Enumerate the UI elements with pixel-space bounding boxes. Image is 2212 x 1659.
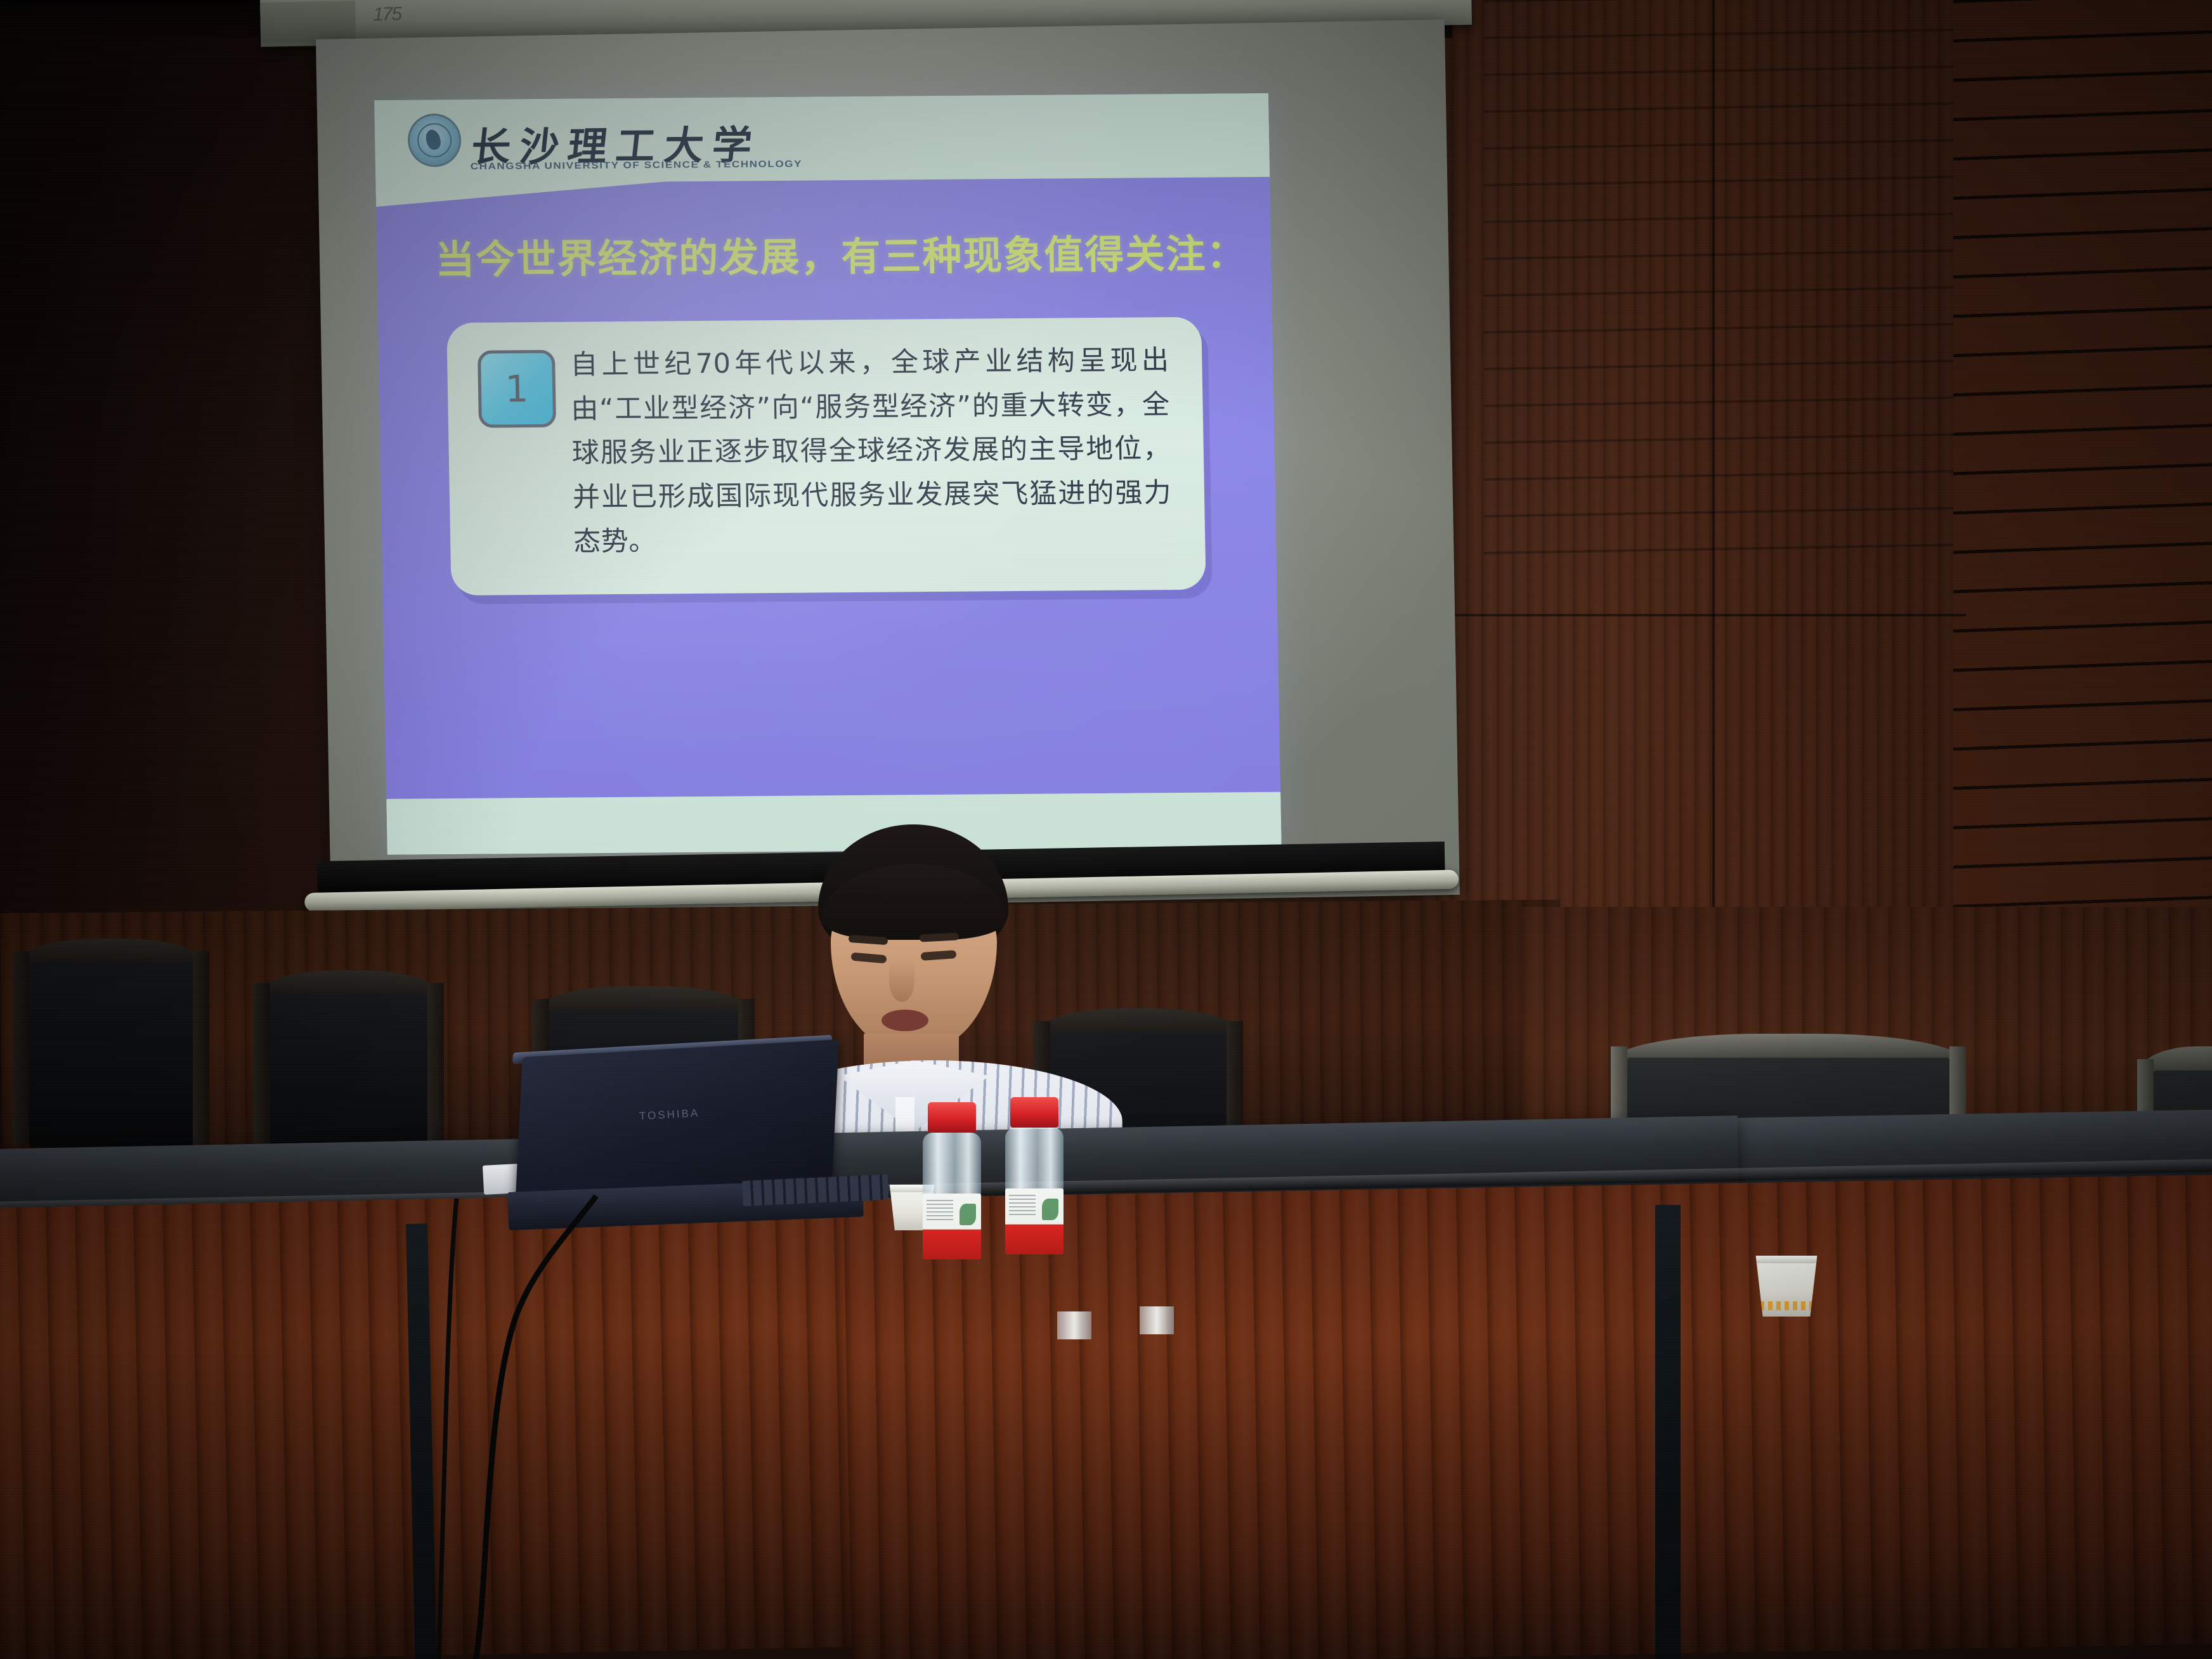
wall-slats-upper [1484,0,1966,571]
bottle-label-text-block [1009,1195,1036,1216]
cup-decoration-band [1760,1301,1813,1310]
slide-point-card: 1 自上世纪70年代以来，全球产业结构呈现出由“工业型经济”向“服务型经济”的重… [446,317,1206,595]
bottle-body [923,1133,981,1259]
bottle-label [1005,1188,1064,1254]
paper-cup-right [1752,1256,1821,1317]
wall-seam-horizontal [1421,614,1966,616]
chair-backrest [29,963,193,1148]
bottle-cap [928,1102,976,1133]
bottle-cap [1010,1097,1058,1128]
point-number-badge: 1 [478,350,556,428]
desk-panel-gap-right [1655,1205,1681,1659]
bottle-neck [1057,1311,1091,1339]
chair-left-1 [13,939,209,1148]
presenter-nose [889,960,914,1002]
presenter-mouth [882,1010,928,1031]
projected-slide: 长沙理工大学 CHANGSHA UNIVERSITY OF SCIENCE & … [374,93,1282,855]
chair-post-left [13,951,29,1144]
university-seal-icon [407,114,461,167]
chair-post-right [193,951,209,1144]
desk-front-panel-left [0,1190,872,1659]
projector-screen-housing-cap [260,1,356,43]
slide-title: 当今世界经济的发展，有三种现象值得关注： [435,221,1248,285]
bottle-neck [1140,1306,1174,1334]
lecture-hall-photo: 175 长沙理工大学 CHANGSHA UNIVERSITY OF SCIENC… [0,0,2212,1659]
point-number-label: 1 [505,367,529,410]
bottle-label-text-block [927,1200,953,1221]
housing-label: 175 [373,4,401,26]
water-bottle-2 [1005,1097,1064,1254]
bottle-label [923,1194,981,1259]
chair-post-left [254,983,270,1169]
point-body-text: 自上世纪70年代以来，全球产业结构呈现出由“工业型经济”向“服务型经济”的重大转… [570,339,1173,564]
bottle-body [1005,1128,1064,1254]
cup-rim [1752,1256,1821,1263]
water-bottle-1 [923,1102,981,1259]
